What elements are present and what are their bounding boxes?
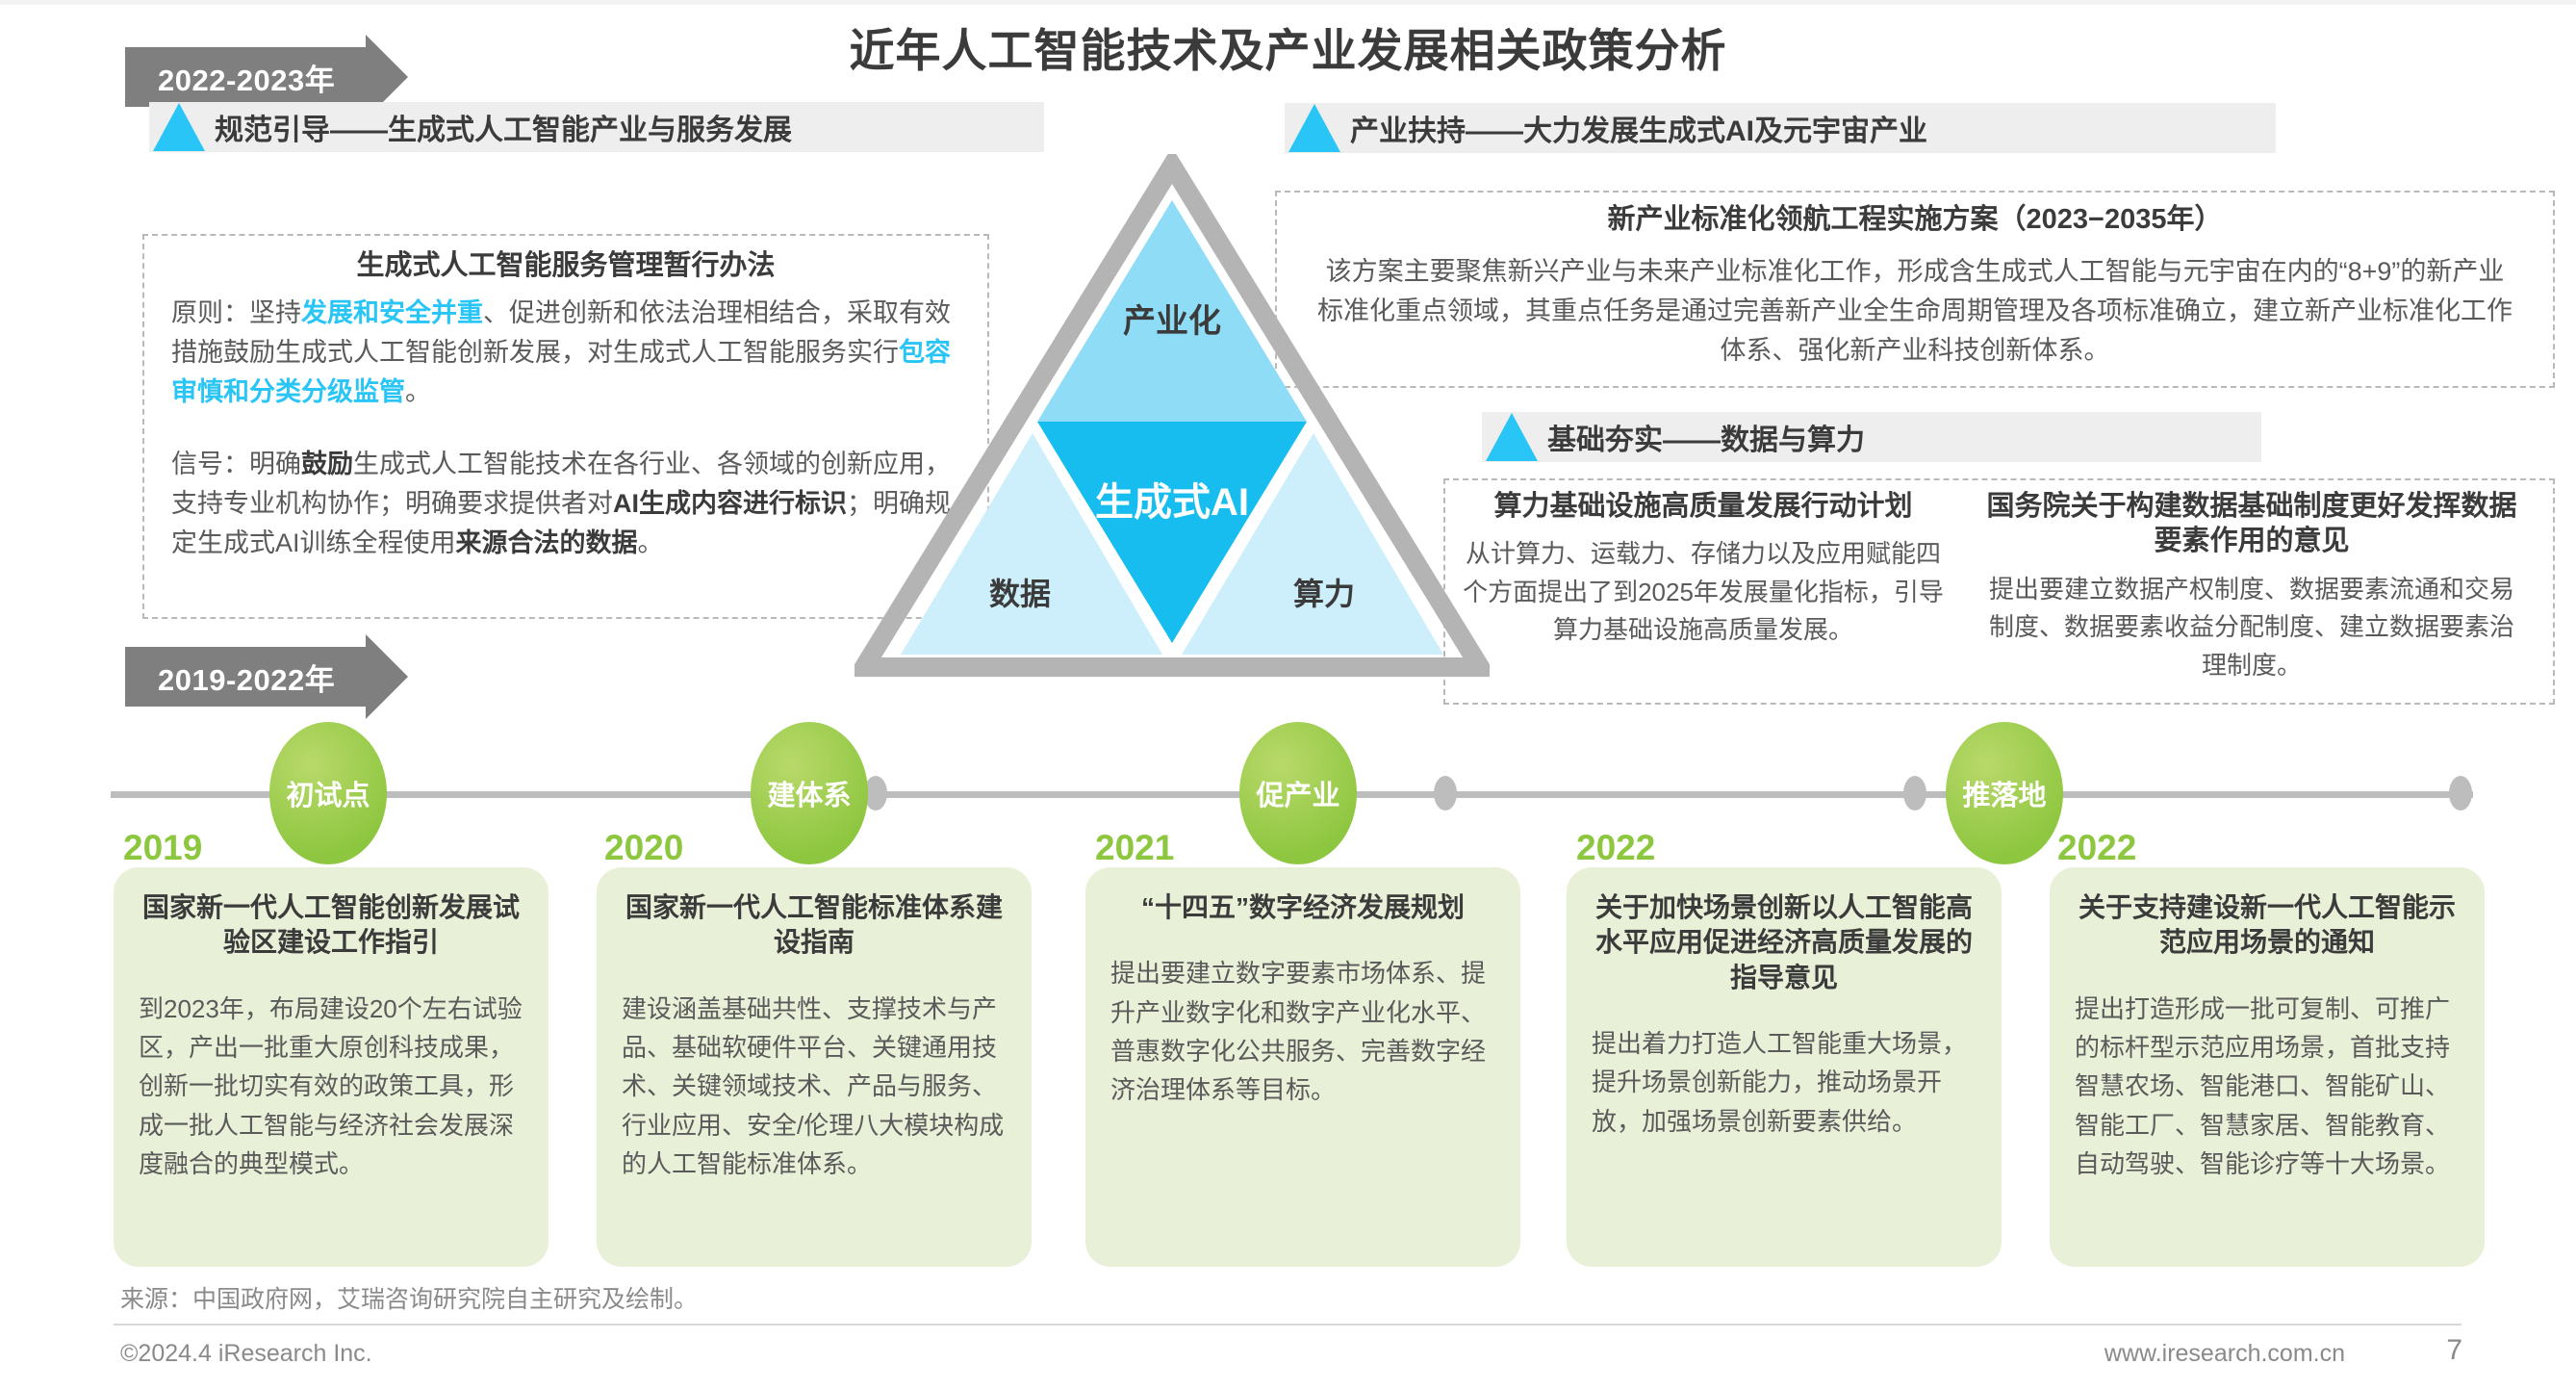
base-body-text: 从计算力、运载力、存储力以及应用赋能四个方面提出了到2025年发展量化指标，引导… (1463, 535, 1944, 650)
timeline-dot (1903, 776, 1926, 811)
base-doc-title: 算力基础设施高质量发展行动计划 (1463, 489, 1944, 524)
timeline-badge-2[interactable]: 建体系 (751, 722, 868, 864)
era-arrow-label: 2019-2022年 (158, 656, 335, 699)
section-heading-label: 规范引导——生成式人工智能产业与服务发展 (215, 106, 819, 148)
text-run: 。 (638, 528, 664, 557)
timeline-year-2020: 2020 (604, 828, 683, 868)
timeline-year-2022-b: 2022 (2057, 828, 2136, 868)
policy-card-body: 到2023年，布局建设20个左右试验区，产出一批重大原创科技成果，创新一批切实有… (139, 990, 523, 1183)
pyramid-bottom-left-label: 数据 (989, 577, 1051, 611)
policy-card-body: 建设涵盖基础共性、支撑技术与产品、基础软硬件平台、关键通用技术、关键领域技术、产… (622, 990, 1007, 1183)
text-run: 。 (405, 377, 431, 406)
timeline-badge-label: 促产业 (1256, 773, 1339, 813)
section-heading-base: 基础夯实——数据与算力 (1482, 412, 2261, 462)
source-note: 来源：中国政府网，艾瑞咨询研究院自主研究及绘制。 (120, 1280, 698, 1315)
guide-paragraph-principle: 原则：坚持发展和安全并重、促进创新和依法治理相结合，采取有效措施鼓励生成式人工智… (171, 294, 960, 412)
policy-card-title: “十四五”数字经济发展规划 (1110, 890, 1495, 925)
timeline-badge-label: 建体系 (767, 773, 851, 813)
base-column-data: 国务院关于构建数据基础制度更好发挥数据要素作用的意见 提出要建立数据产权制度、数… (1982, 489, 2521, 684)
triangle-marker-icon (1288, 104, 1340, 152)
highlight-run: 发展和安全并重 (301, 298, 483, 327)
section-heading-support: 产业扶持——大力发展生成式AI及元宇宙产业 (1285, 103, 2276, 153)
text-run: 信号：明确 (171, 450, 301, 478)
top-rule (0, 0, 2576, 5)
guide-doc-title: 生成式人工智能服务管理暂行办法 (162, 248, 970, 283)
policy-card-2[interactable]: 国家新一代人工智能标准体系建设指南 建设涵盖基础共性、支撑技术与产品、基础软硬件… (597, 867, 1032, 1267)
policy-card-body: 提出着力打造人工智能重大场景，提升场景创新能力，推动场景开放，加强场景创新要素供… (1592, 1024, 1977, 1141)
policy-card-3[interactable]: “十四五”数字经济发展规划 提出要建立数字要素市场体系、提升产业数字化和数字产业… (1085, 867, 1520, 1267)
policy-card-title: 关于加快场景创新以人工智能高水平应用促进经济高质量发展的指导意见 (1592, 890, 1977, 995)
policy-card-body: 提出打造形成一批可复制、可推广的标杆型示范应用场景，首批支持智慧农场、智能港口、… (2075, 990, 2460, 1183)
policy-card-title: 国家新一代人工智能创新发展试验区建设工作指引 (139, 890, 523, 961)
section-heading-label: 产业扶持——大力发展生成式AI及元宇宙产业 (1350, 107, 1954, 149)
policy-card-4[interactable]: 关于加快场景创新以人工智能高水平应用促进经济高质量发展的指导意见 提出着力打造人… (1567, 867, 2002, 1267)
timeline-badge-label: 初试点 (286, 773, 370, 813)
policy-card-body: 提出要建立数字要素市场体系、提升产业数字化和数字产业化水平、普惠数字化公共服务、… (1110, 954, 1495, 1109)
timeline-year-2021: 2021 (1095, 828, 1174, 868)
base-column-compute: 算力基础设施高质量发展行动计划 从计算力、运载力、存储力以及应用赋能四个方面提出… (1463, 489, 1944, 650)
era-arrow-2019-2022: 2019-2022年 (125, 647, 366, 707)
timeline-dot (2449, 776, 2472, 811)
timeline-badge-4[interactable]: 推落地 (1946, 722, 2063, 864)
policy-card-title: 国家新一代人工智能标准体系建设指南 (622, 890, 1007, 961)
copyright-text: ©2024.4 iResearch Inc. (120, 1340, 372, 1368)
bold-run: 鼓励 (301, 450, 353, 478)
text-run: 原则：坚持 (171, 298, 301, 327)
pyramid-center-label: 生成式AI (1095, 481, 1249, 524)
timeline-year-2022-a: 2022 (1576, 828, 1655, 868)
pyramid-bottom-right-label: 算力 (1293, 577, 1355, 611)
section-heading-label: 基础夯实——数据与算力 (1547, 416, 1892, 458)
policy-card-1[interactable]: 国家新一代人工智能创新发展试验区建设工作指引 到2023年，布局建设20个左右试… (114, 867, 548, 1267)
section-heading-guide: 规范引导——生成式人工智能产业与服务发展 (149, 102, 1044, 152)
era-arrow-2022-2023: 2022-2023年 (125, 47, 366, 107)
support-body-text: 该方案主要聚焦新兴产业与未来产业标准化工作，形成含生成式人工智能与元宇宙在内的“… (1314, 252, 2516, 371)
guide-paragraph-signal: 信号：明确鼓励生成式人工智能技术在各行业、各领域的创新应用，支持专业机构协作；明… (171, 445, 960, 563)
triangle-marker-icon (1486, 413, 1538, 461)
pyramid-diagram: 产业化 生成式AI 数据 算力 (854, 154, 1490, 679)
policy-card-5[interactable]: 关于支持建设新一代人工智能示范应用场景的通知 提出打造形成一批可复制、可推广的标… (2050, 867, 2485, 1267)
website-url: www.iresearch.com.cn (2104, 1340, 2345, 1368)
timeline-dot (1434, 776, 1457, 811)
bold-run: AI生成内容进行标识 (613, 489, 847, 518)
footer-divider (114, 1324, 2461, 1326)
pyramid-top-label: 产业化 (1123, 303, 1221, 340)
timeline-badge-3[interactable]: 促产业 (1239, 722, 1357, 864)
timeline-year-2019: 2019 (123, 828, 202, 868)
timeline-badge-label: 推落地 (1962, 773, 2046, 813)
base-body-text: 提出要建立数据产权制度、数据要素流通和交易制度、数据要素收益分配制度、建立数据要… (1982, 571, 2521, 685)
era-arrow-label: 2022-2023年 (158, 56, 335, 99)
page-number: 7 (2446, 1334, 2462, 1367)
policy-card-title: 关于支持建设新一代人工智能示范应用场景的通知 (2075, 890, 2460, 961)
triangle-marker-icon (153, 103, 205, 151)
base-doc-title: 国务院关于构建数据基础制度更好发挥数据要素作用的意见 (1982, 489, 2521, 559)
bold-run: 来源合法的数据 (456, 528, 638, 557)
timeline-badge-1[interactable]: 初试点 (269, 722, 387, 864)
